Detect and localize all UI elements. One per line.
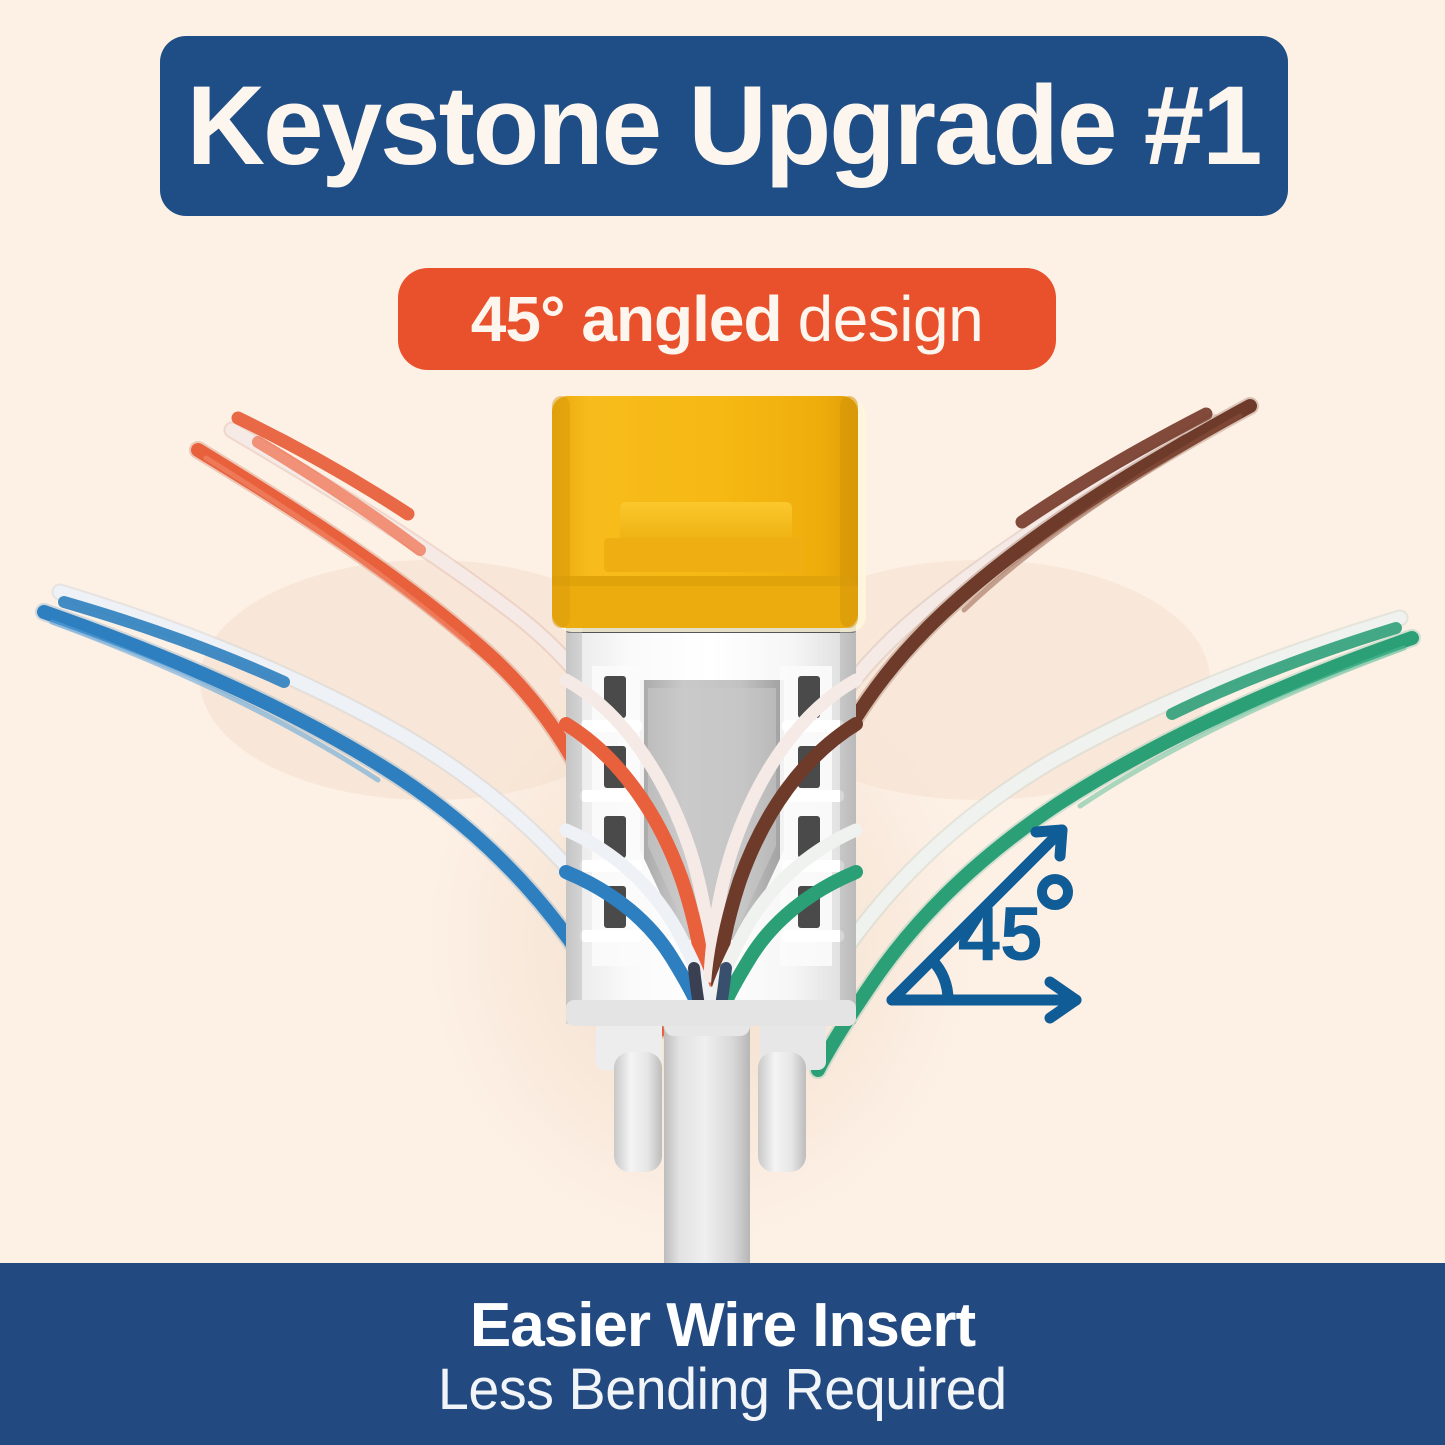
degree-symbol-icon [1042,879,1068,905]
cable-jacket-lower [664,1140,750,1270]
keystone-yellow-cap [552,396,866,632]
keystone-jack-illustration: 45 [0,380,1445,1270]
product-photo: 45 [0,380,1445,1270]
marketing-graphic: Keystone Upgrade #1 45° angled design [0,0,1445,1445]
badge-light-label: design [782,287,984,351]
angle-value-label: 45 [958,892,1043,977]
header-banner: Keystone Upgrade #1 [160,36,1288,216]
badge-bold-label: 45° angled [471,287,782,351]
footer-headline: Easier Wire Insert [470,1293,975,1358]
feature-badge-angled-design: 45° angled design [398,268,1056,370]
footer-banner: Easier Wire Insert Less Bending Required [0,1263,1445,1445]
angle-label-group: 45 [958,879,1068,977]
footer-subline: Less Bending Required [438,1360,1007,1421]
page-title: Keystone Upgrade #1 [187,70,1261,182]
